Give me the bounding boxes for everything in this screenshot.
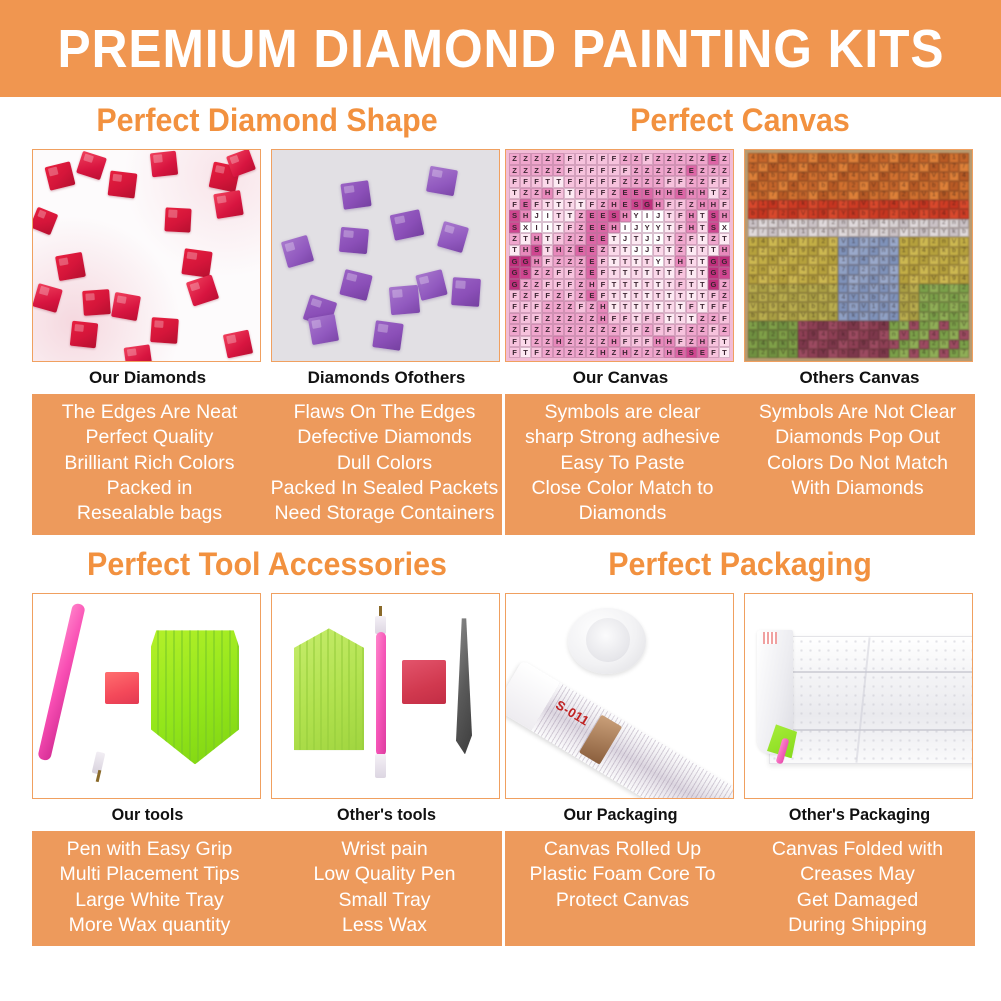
blurry-canvas-cell: 4 (828, 312, 838, 321)
blurry-canvas-cell: / (818, 219, 828, 228)
blurry-canvas-cell: b (899, 340, 909, 349)
canvas-symbol-cell: X (719, 222, 730, 233)
blurry-canvas-cell: b (798, 219, 808, 228)
blurry-canvas-cell: 2 (929, 237, 939, 246)
blurry-canvas-cell: k (899, 219, 909, 228)
blurry-canvas-cell: / (828, 302, 838, 311)
canvas-symbol-cell: F (653, 313, 664, 324)
canvas-symbol-cell: T (542, 199, 553, 210)
blurry-canvas-cell: 4 (778, 302, 788, 311)
blurry-canvas-cell: k (909, 200, 919, 209)
blurry-canvas-cell: 9 (869, 219, 879, 228)
blurry-canvas-cell: 1 (899, 349, 909, 358)
blurry-canvas-cell: / (768, 312, 778, 321)
fact-line: Flaws On The Edges (270, 400, 499, 425)
blurry-canvas-cell: V (838, 340, 848, 349)
canvas-symbol-cell: J (620, 233, 631, 244)
canvas-symbol-cell: F (675, 336, 686, 347)
canvas-symbol-cell: H (620, 210, 631, 221)
blurry-canvas-cell: 1 (869, 302, 879, 311)
blurry-canvas-cell: 4 (768, 321, 778, 330)
blurry-canvas-cell: V (768, 163, 778, 172)
blurry-canvas-cell: b (879, 275, 889, 284)
canvas-symbol-cell: F (597, 290, 608, 301)
blurry-canvas-cell: k (748, 293, 758, 302)
canvas-symbol-cell: F (553, 279, 564, 290)
blurry-canvas-cell: Y (778, 321, 788, 330)
blurry-canvas-cell: Y (909, 284, 919, 293)
blurry-canvas-cell: 4 (758, 340, 768, 349)
canvas-symbol-cell: F (620, 313, 631, 324)
canvas-symbol-cell: H (620, 347, 631, 358)
blurry-canvas-cell: b (838, 247, 848, 256)
blurry-canvas-cell: n (899, 209, 909, 218)
cell-our-canvas: ZZZZZFFFFFZZFZZZZZEZZZZZZFFFFFFZZZZZEZZZ… (505, 149, 736, 394)
blurry-canvas-cell: Y (949, 209, 959, 218)
fact-line: Plastic Foam Core To (508, 862, 737, 887)
blurry-canvas-cell: 7 (859, 228, 869, 237)
pink-pen-icon (376, 632, 386, 756)
canvas-symbol-cell: E (586, 233, 597, 244)
canvas-symbol-cell: T (697, 210, 708, 221)
blurry-canvas-cell: b (949, 247, 959, 256)
blurry-canvas-cell: 2 (818, 340, 828, 349)
canvas-symbol-cell: F (708, 336, 719, 347)
canvas-symbol-cell: E (520, 199, 531, 210)
cell-others-diamonds: Diamonds Ofothers (271, 149, 502, 394)
blurry-canvas-cell: 2 (859, 163, 869, 172)
blurry-canvas-cell: 2 (778, 209, 788, 218)
canvas-symbol-cell: F (575, 153, 586, 164)
canvas-symbol-cell: H (719, 245, 730, 256)
canvas-symbol-cell: H (697, 199, 708, 210)
blurry-canvas-cell: 7 (748, 228, 758, 237)
blurry-canvas-cell: 7 (899, 256, 909, 265)
canvas-symbol-cell: F (520, 301, 531, 312)
canvas-symbol-cell: T (697, 267, 708, 278)
blurry-canvas-cell: Y (859, 275, 869, 284)
blurry-canvas-cell: k (748, 191, 758, 200)
blurry-canvas-cell: Y (828, 330, 838, 339)
blurry-canvas-cell: 9 (879, 302, 889, 311)
blurry-canvas-cell: n (768, 247, 778, 256)
blurry-canvas-cell: b (869, 191, 879, 200)
canvas-symbol-cell: F (597, 165, 608, 176)
canvas-symbol-cell: H (664, 336, 675, 347)
canvas-symbol-cell: F (564, 165, 575, 176)
blurry-canvas-cell: b (959, 228, 969, 237)
canvas-symbol-cell: F (642, 313, 653, 324)
blurry-canvas-cell: b (848, 228, 858, 237)
canvas-symbol-cell: T (642, 279, 653, 290)
blurry-canvas-cell: 9 (859, 340, 869, 349)
blurry-canvas-cell: / (818, 321, 828, 330)
canvas-symbol-cell: J (642, 245, 653, 256)
canvas-symbol-cell: T (564, 210, 575, 221)
blurry-canvas-cell: 2 (748, 265, 758, 274)
blurry-canvas-cell: 2 (838, 302, 848, 311)
canvas-symbol-cell: Z (531, 153, 542, 164)
blurry-canvas-cell: V (939, 153, 949, 162)
blurry-canvas-cell: V (889, 349, 899, 358)
blurry-canvas-cell: V (879, 265, 889, 274)
blurry-canvas-cell: k (768, 153, 778, 162)
blurry-canvas-cell: 4 (909, 163, 919, 172)
blurry-canvas-cell: V (778, 349, 788, 358)
canvas-symbol-cell: H (542, 188, 553, 199)
blurry-canvas-cell: 9 (899, 265, 909, 274)
canvas-symbol-cell: E (675, 188, 686, 199)
blurry-canvas-cell: 4 (919, 247, 929, 256)
tray-grooves (294, 628, 364, 750)
canvas-symbol-cell: H (531, 233, 542, 244)
blurry-canvas-cell: 9 (889, 181, 899, 190)
blurry-canvas-cell: 4 (959, 172, 969, 181)
canvas-symbol-cell: Z (564, 301, 575, 312)
photo-our-tools (32, 593, 261, 799)
blurry-canvas-cell: 9 (828, 191, 838, 200)
canvas-symbol-cell: F (620, 336, 631, 347)
blurry-canvas-cell: 7 (929, 302, 939, 311)
canvas-symbol-cell: T (631, 290, 642, 301)
canvas-symbol-cell: T (653, 279, 664, 290)
canvas-symbol-cell: H (586, 279, 597, 290)
blurry-canvas-cell: / (838, 284, 848, 293)
blurry-canvas-cell: n (818, 153, 828, 162)
blurry-canvas-cell: / (798, 256, 808, 265)
blurry-canvas-cell: 4 (929, 330, 939, 339)
blurry-canvas-cell: 4 (818, 330, 828, 339)
canvas-symbol-cell: F (564, 290, 575, 301)
canvas-symbol-cell: T (620, 245, 631, 256)
canvas-symbol-cell: T (642, 301, 653, 312)
blurry-canvas-cell: 2 (828, 219, 838, 228)
canvas-symbol-cell: F (597, 176, 608, 187)
canvas-symbol-cell: Z (575, 336, 586, 347)
blurry-canvas-cell: 4 (949, 293, 959, 302)
blurry-canvas-cell: 2 (859, 265, 869, 274)
blurry-canvas-cell: Y (909, 181, 919, 190)
canvas-symbol-cell: H (686, 222, 697, 233)
canvas-symbol-cell: Z (642, 176, 653, 187)
blurry-canvas-cell: 4 (879, 321, 889, 330)
blurry-canvas-cell: / (838, 181, 848, 190)
blurry-canvas-cell: 2 (798, 275, 808, 284)
blurry-canvas-cell: n (838, 321, 848, 330)
canvas-symbol-cell: F (509, 347, 520, 358)
blurry-canvas-cell: 9 (808, 228, 818, 237)
canvas-symbol-cell: Z (575, 313, 586, 324)
blurry-canvas-cell: 9 (748, 340, 758, 349)
factbox-packaging: Canvas Rolled Up Plastic Foam Core To Pr… (505, 831, 975, 946)
caption-our-diamonds: Our Diamonds (32, 362, 263, 394)
blurry-canvas-cell: / (939, 200, 949, 209)
canvas-symbol-cell: F (686, 301, 697, 312)
canvas-symbol-cell: F (553, 267, 564, 278)
blurry-canvas-cell: V (879, 163, 889, 172)
canvas-symbol-cell: F (608, 153, 619, 164)
canvas-symbol-cell: T (642, 267, 653, 278)
cell-our-packaging: S-011 Our Packaging (505, 593, 736, 831)
canvas-symbol-cell: T (664, 267, 675, 278)
blurry-canvas-cell: 7 (869, 312, 879, 321)
caption-others-canvas: Others Canvas (744, 362, 975, 394)
canvas-symbol-cell: Z (520, 153, 531, 164)
canvas-symbol-cell: E (631, 188, 642, 199)
fact-line: Symbols Are Not Clear (743, 400, 972, 425)
canvas-symbol-cell: G (642, 199, 653, 210)
canvas-symbol-cell: Z (520, 165, 531, 176)
factbox-canvas: Symbols are clear sharp Strong adhesive … (505, 394, 975, 535)
blurry-canvas-cell: / (859, 349, 869, 358)
blurry-canvas-cell: / (848, 265, 858, 274)
canvas-symbol-cell: Z (509, 324, 520, 335)
canvas-symbol-cell: G (708, 256, 719, 267)
blurry-canvas-cell: b (818, 284, 828, 293)
canvas-symbol-cell: F (564, 153, 575, 164)
fact-line: Low Quality Pen (270, 862, 499, 887)
canvas-symbol-cell: T (653, 290, 664, 301)
blurry-canvas-cell: 1 (919, 312, 929, 321)
photo-our-diamonds (32, 149, 261, 362)
blurry-canvas-cell: 9 (899, 163, 909, 172)
blurry-canvas-cell: 2 (879, 228, 889, 237)
canvas-symbol-cell: Z (575, 210, 586, 221)
blurry-canvas-cell: k (879, 256, 889, 265)
blurry-canvas-cell: / (869, 330, 879, 339)
fact-line: Protect Canvas (508, 888, 737, 913)
blurry-canvas-cell: Y (899, 200, 909, 209)
blurry-canvas-cell: 7 (939, 284, 949, 293)
blurry-canvas-cell: 1 (798, 330, 808, 339)
canvas-symbol-cell: T (520, 347, 531, 358)
fact-line: Less Wax (270, 913, 499, 938)
blurry-canvas-cell: b (889, 153, 899, 162)
canvas-symbol-cell: Z (531, 188, 542, 199)
factbox-ours-diamond-shape: The Edges Are Neat Perfect Quality Brill… (32, 400, 267, 527)
canvas-symbol-cell: I (542, 210, 553, 221)
canvas-symbol-cell: Z (509, 153, 520, 164)
canvas-symbol-cell: H (608, 336, 619, 347)
canvas-symbol-cell: H (653, 199, 664, 210)
cell-our-diamonds: Our Diamonds (32, 149, 263, 394)
canvas-symbol-cell: Z (509, 233, 520, 244)
canvas-symbol-cell: Z (542, 313, 553, 324)
blurry-canvas-cell: Y (758, 153, 768, 162)
canvas-symbol-cell: F (542, 279, 553, 290)
blurry-canvas-cell: 7 (818, 302, 828, 311)
blurry-canvas-cell: 1 (909, 330, 919, 339)
blurry-canvas-cell: n (889, 330, 899, 339)
blurry-canvas-cell: Y (959, 293, 969, 302)
blurry-canvas-cell: / (939, 302, 949, 311)
blurry-canvas-cell: Y (939, 228, 949, 237)
canvas-symbol-cell: E (586, 210, 597, 221)
fact-line: Diamonds Pop Out (743, 425, 972, 450)
fact-line: Packed in (35, 476, 264, 501)
canvas-symbol-cell: Z (686, 176, 697, 187)
canvas-symbol-cell: T (620, 301, 631, 312)
factbox-others-packaging: Canvas Folded with Creases May Get Damag… (740, 837, 975, 938)
canvas-symbol-cell: H (697, 336, 708, 347)
canvas-symbol-cell: Z (653, 347, 664, 358)
canvas-symbol-cell: T (608, 256, 619, 267)
canvas-symbol-cell: S (608, 210, 619, 221)
canvas-symbol-cell: G (719, 256, 730, 267)
blurry-canvas-cell: k (939, 247, 949, 256)
blurry-canvas-cell: V (909, 312, 919, 321)
blurry-canvas-cell: b (748, 312, 758, 321)
canvas-symbol-cell: T (697, 233, 708, 244)
canvas-symbol-cell: T (719, 233, 730, 244)
canvas-symbol-cell: G (509, 267, 520, 278)
canvas-symbol-cell: H (719, 210, 730, 221)
canvas-symbol-cell: Z (675, 233, 686, 244)
blurry-canvas-cell: / (949, 284, 959, 293)
fact-line: Dull Colors (270, 451, 499, 476)
factbox-ours-tools: Pen with Easy Grip Multi Placement Tips … (32, 837, 267, 938)
blurry-canvas-cell: 7 (838, 265, 848, 274)
canvas-symbol-cell: Z (708, 233, 719, 244)
canvas-symbol-cell: F (597, 188, 608, 199)
canvas-symbol-cell: F (675, 279, 686, 290)
canvas-symbol-cell: T (542, 245, 553, 256)
canvas-symbol-cell: T (553, 176, 564, 187)
blurry-canvas-cell: / (919, 340, 929, 349)
blurry-canvas-cell: 2 (869, 247, 879, 256)
canvas-symbol-cell: F (664, 176, 675, 187)
canvas-symbol-cell: S (708, 210, 719, 221)
blurry-canvas-cell: Y (959, 191, 969, 200)
canvas-symbol-cell: F (586, 165, 597, 176)
canvas-symbol-cell: Z (575, 256, 586, 267)
photo-others-diamonds (271, 149, 500, 362)
section-canvas: Perfect Canvas ZZZZZFFFFFZZFZZZZZEZZZZZZ… (505, 101, 975, 535)
blurry-canvas-cell: k (909, 302, 919, 311)
caption-our-packaging: Our Packaging (511, 799, 730, 831)
canvas-symbol-cell: F (675, 267, 686, 278)
cell-others-tools: Other's tools (271, 593, 502, 831)
blurry-canvas-cell: 1 (838, 256, 848, 265)
canvas-symbol-cell: S (509, 210, 520, 221)
blurry-canvas-cell: 4 (909, 265, 919, 274)
blurry-canvas-cell: 2 (899, 293, 909, 302)
blurry-canvas-cell: 2 (828, 321, 838, 330)
fact-line: Get Damaged (743, 888, 972, 913)
canvas-symbol-cell: F (520, 313, 531, 324)
canvas-symbol-cell: T (631, 267, 642, 278)
photo-our-packaging: S-011 (505, 593, 734, 799)
canvas-symbol-cell: F (509, 176, 520, 187)
blurry-canvas-cell: 2 (848, 284, 858, 293)
blurry-canvas-cell: k (949, 228, 959, 237)
wax-square-icon (402, 660, 446, 704)
blurry-canvas-cell: 4 (838, 191, 848, 200)
blurry-canvas-cell: 1 (808, 209, 818, 218)
canvas-symbol-cell: Z (564, 245, 575, 256)
blurry-canvas-cell: b (879, 172, 889, 181)
canvas-symbol-cell: F (531, 199, 542, 210)
fact-line: Canvas Folded with (743, 837, 972, 862)
canvas-symbol-cell: Z (542, 336, 553, 347)
blurry-canvas-cell: n (778, 330, 788, 339)
canvas-symbol-cell: S (719, 267, 730, 278)
canvas-symbol-cell: F (597, 267, 608, 278)
photo-pair-canvas: ZZZZZFFFFFZZFZZZZZEZZZZZZFFFFFFZZZZZEZZZ… (505, 149, 975, 394)
canvas-symbol-cell: Z (675, 165, 686, 176)
blurry-canvas-cell: / (899, 172, 909, 181)
canvas-symbol-cell: F (642, 153, 653, 164)
canvas-symbol-cell: Z (564, 313, 575, 324)
canvas-symbol-cell: F (597, 153, 608, 164)
blurry-canvas-cell: 4 (748, 256, 758, 265)
blurry-canvas-cell: 9 (929, 312, 939, 321)
canvas-symbol-cell: E (586, 256, 597, 267)
canvas-symbol-cell: Z (631, 165, 642, 176)
canvas-symbol-cell: F (553, 188, 564, 199)
cell-others-canvas: 4Ykb7/2nV194Ykb7/2nV192nV194Ykb7/2nV194Y… (744, 149, 975, 394)
canvas-symbol-cell: T (686, 290, 697, 301)
blurry-canvas-cell: Y (768, 237, 778, 246)
blurry-canvas-cell: b (798, 321, 808, 330)
blurry-canvas-cell: b (758, 293, 768, 302)
blurry-canvas-cell: b (959, 330, 969, 339)
canvas-symbol-cell: E (697, 347, 708, 358)
canvas-symbol-cell: S (708, 222, 719, 233)
canvas-symbol-cell: Z (675, 153, 686, 164)
blurry-canvas-cell: Y (768, 340, 778, 349)
blurry-canvas-cell: n (848, 200, 858, 209)
canvas-symbol-cell: T (575, 199, 586, 210)
blurry-canvas-cell: Y (869, 256, 879, 265)
blurry-canvas-cell: 7 (959, 247, 969, 256)
blurry-canvas-cell: 1 (889, 265, 899, 274)
blurry-canvas-cell: 4 (828, 209, 838, 218)
canvas-symbol-cell: H (553, 336, 564, 347)
canvas-symbol-cell: T (631, 301, 642, 312)
canvas-symbol-cell: Z (575, 290, 586, 301)
blurry-canvas-cell: Y (949, 312, 959, 321)
blurry-canvas-cell: Y (808, 163, 818, 172)
blurry-canvas-cell: 1 (798, 228, 808, 237)
blurry-canvas-cell: b (889, 256, 899, 265)
blurry-canvas-cell: 2 (758, 349, 768, 358)
blurry-canvas-cell: b (828, 265, 838, 274)
canvas-symbol-cell: S (531, 245, 542, 256)
canvas-symbol-cell: Z (686, 336, 697, 347)
canvas-symbol-cell: Z (553, 324, 564, 335)
blurry-canvas-cell: V (808, 191, 818, 200)
canvas-symbol-cell: Z (708, 313, 719, 324)
canvas-symbol-cell: Z (564, 336, 575, 347)
blurry-canvas-cell: n (869, 265, 879, 274)
blurry-canvas-cell: / (768, 209, 778, 218)
canvas-symbol-cell: T (697, 256, 708, 267)
blurry-canvas-cell: 4 (879, 219, 889, 228)
blurry-canvas-cell: V (949, 237, 959, 246)
canvas-symbol-cell: H (553, 245, 564, 256)
blurry-canvas-cell: V (929, 172, 939, 181)
canvas-symbol-cell: F (719, 301, 730, 312)
blurry-canvas-cell: 2 (959, 181, 969, 190)
blurry-canvas-cell: k (929, 265, 939, 274)
canvas-symbol-cell: E (620, 199, 631, 210)
fact-line: With Diamonds (743, 476, 972, 501)
canvas-symbol-cell: G (708, 267, 719, 278)
canvas-symbol-cell: Z (597, 336, 608, 347)
photo-others-canvas: 4Ykb7/2nV194Ykb7/2nV192nV194Ykb7/2nV194Y… (744, 149, 973, 362)
blurry-canvas-cell: V (959, 219, 969, 228)
